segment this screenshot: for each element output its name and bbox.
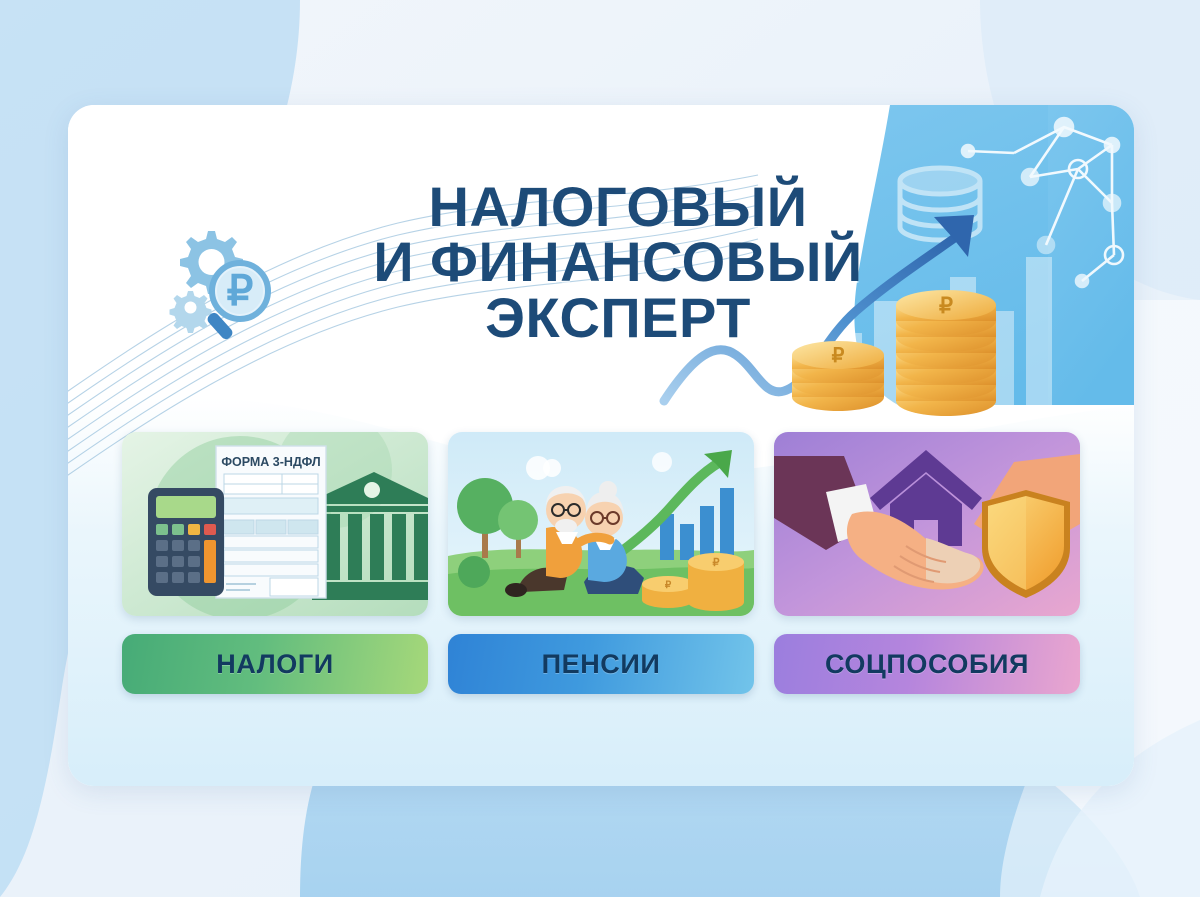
category-card-pension[interactable]: ₽ ₽ xyxy=(448,432,754,616)
svg-text:₽: ₽ xyxy=(713,557,720,569)
page-title: НАЛОГОВЫЙ И ФИНАНСОВЫЙ ЭКСПЕРТ xyxy=(308,179,928,345)
tax-form-document: ФОРМА 3-НДФЛ xyxy=(216,446,326,598)
gear-small-icon xyxy=(170,291,212,333)
category-card-row: ФОРМА 3-НДФЛ xyxy=(122,432,1080,616)
magnifier-ruble-gears-icon: ₽ xyxy=(166,223,286,343)
button-social[interactable]: СОЦПОСОБИЯ xyxy=(774,634,1080,694)
title-line-1: НАЛОГОВЫЙ xyxy=(308,179,928,234)
button-taxes[interactable]: НАЛОГИ xyxy=(122,634,428,694)
bush xyxy=(458,556,490,588)
category-card-taxes[interactable]: ФОРМА 3-НДФЛ xyxy=(122,432,428,616)
title-line-2: И ФИНАНСОВЫЙ xyxy=(308,234,928,289)
form-title: ФОРМА 3-НДФЛ xyxy=(221,455,320,469)
category-card-social[interactable] xyxy=(774,432,1080,616)
category-button-row: НАЛОГИ ПЕНСИИ СОЦПОСОБИЯ xyxy=(122,634,1080,694)
title-line-3: ЭКСПЕРТ xyxy=(308,290,928,345)
poster-card: ₽ ₽ xyxy=(68,105,1134,786)
ruble-glyph: ₽ xyxy=(227,267,254,314)
svg-text:₽: ₽ xyxy=(832,345,845,367)
magnifier-icon: ₽ xyxy=(206,263,268,341)
calculator-icon xyxy=(148,488,224,596)
svg-text:₽: ₽ xyxy=(939,293,953,318)
button-pension[interactable]: ПЕНСИИ xyxy=(448,634,754,694)
svg-text:₽: ₽ xyxy=(665,580,672,591)
